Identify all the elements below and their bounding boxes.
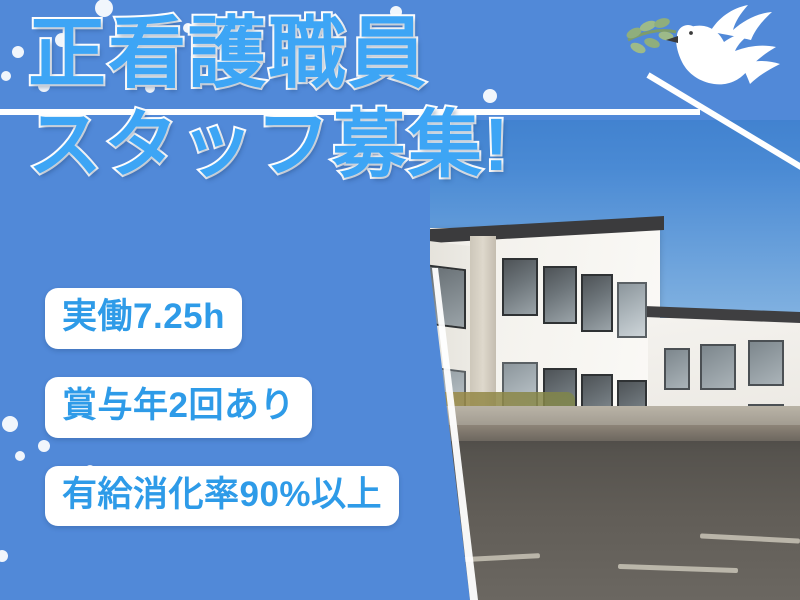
headline: 正看護職員 スタッフ募集! [28,14,511,182]
building-window [543,266,577,324]
dove-eye [689,31,693,35]
recruitment-banner: 正看護職員 スタッフ募集! 実働7.25h賞与年2回あり有給消化率90%以上 [0,0,800,600]
feature-badge: 実働7.25h [45,288,242,349]
decorative-dot [12,46,24,58]
wing-window [700,344,736,390]
wing-window [748,340,784,386]
headline-line-1: 正看護職員 [28,14,511,92]
parking-line [700,533,800,543]
dove-head [677,25,699,47]
building-window [581,274,613,332]
building-window [502,258,538,316]
parking-line [618,564,738,573]
feature-badge-list: 実働7.25h賞与年2回あり有給消化率90%以上 [45,288,399,554]
headline-line-2: スタッフ募集! [28,108,511,182]
peace-dove-icon [614,2,794,106]
feature-badge: 有給消化率90%以上 [45,466,399,527]
decorative-dot [15,451,25,461]
decorative-dot [1,71,11,81]
decorative-dot [2,416,18,432]
dove-wing [710,5,772,40]
building-window [617,282,647,338]
dove-tail [740,61,780,84]
feature-badge: 賞与年2回あり [45,377,312,438]
wing-window [664,348,690,390]
olive-branch-icon [625,16,676,55]
